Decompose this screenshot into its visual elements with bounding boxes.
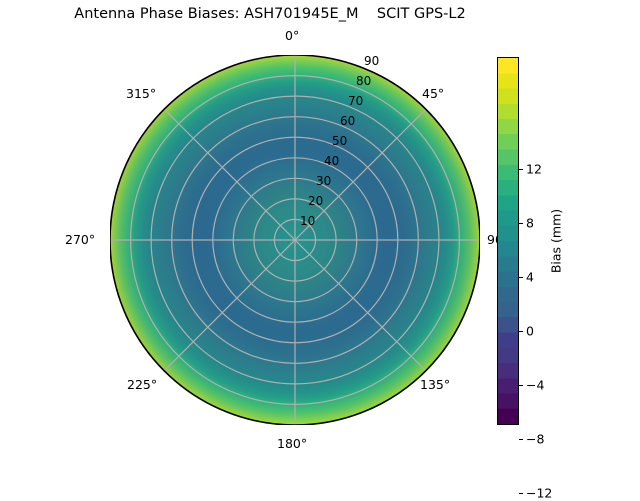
radial-tick-80: 80: [356, 74, 371, 88]
colorbar-ticklabel-0: 0: [526, 324, 534, 339]
angular-tick-180: 180°: [277, 436, 307, 451]
colorbar-tick-0: [519, 331, 523, 332]
radial-tick-60: 60: [340, 114, 355, 128]
colorbar-ticklabel-4: 4: [526, 270, 534, 285]
colorbar-ticklabel-minus8: −8: [526, 432, 544, 447]
figure-canvas: Antenna Phase Biases: ASH701945E_M SCIT …: [0, 0, 640, 480]
radial-tick-50: 50: [332, 134, 347, 148]
colorbar-tick-minus4: [519, 385, 523, 386]
angular-tick-45: 45°: [422, 86, 444, 101]
colorbar-gradient: [497, 57, 519, 425]
angular-gridlines: [110, 55, 480, 425]
colorbar-ticklabel-minus4: −4: [526, 378, 544, 393]
colorbar-ticklabel-12: 12: [526, 162, 542, 177]
page-title: Antenna Phase Biases: ASH701945E_M SCIT …: [0, 6, 540, 22]
colorbar-tick-8: [519, 223, 523, 224]
colorbar-tick-4: [519, 277, 523, 278]
colorbar-ticklabel-minus12: −12: [526, 486, 552, 501]
polar-plot-svg: [110, 55, 480, 425]
polar-axes[interactable]: 0° 45° 90 135° 180° 225° 270° 315° 10 20…: [110, 55, 480, 425]
colorbar-tick-minus12: [519, 493, 523, 494]
radial-tick-20: 20: [308, 194, 323, 208]
angular-tick-315: 315°: [126, 86, 156, 101]
colorbar-axis-label: Bias (mm): [549, 209, 564, 273]
radial-tick-90: 90: [364, 54, 379, 68]
angular-tick-225: 225°: [127, 377, 157, 392]
colorbar-ticklabel-8: 8: [526, 216, 534, 231]
angular-tick-135: 135°: [420, 377, 450, 392]
radial-tick-70: 70: [348, 94, 363, 108]
angular-tick-0: 0°: [285, 28, 299, 43]
radial-tick-10: 10: [300, 214, 315, 228]
colorbar[interactable]: 12 8 4 0 −4 −8 −12: [497, 57, 519, 425]
radial-tick-30: 30: [316, 174, 331, 188]
radial-tick-40: 40: [324, 154, 339, 168]
angular-tick-270: 270°: [65, 232, 95, 247]
colorbar-tick-minus8: [519, 439, 523, 440]
colorbar-tick-12: [519, 169, 523, 170]
